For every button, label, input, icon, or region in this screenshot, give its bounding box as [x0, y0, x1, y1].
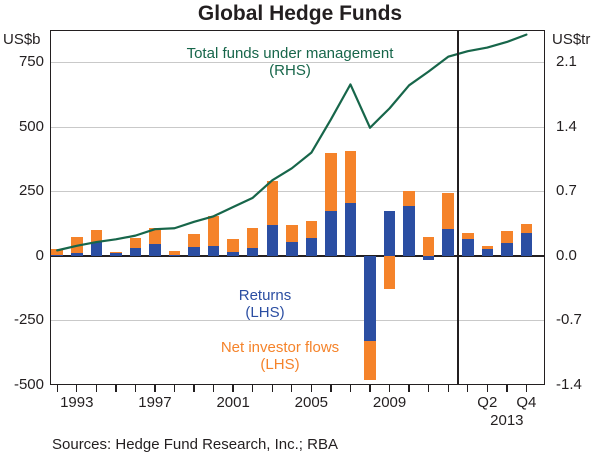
left-tick-label: 250 — [2, 182, 44, 199]
x-tick-mark — [487, 385, 488, 392]
plot-frame — [50, 30, 545, 385]
right-tick-label: -0.7 — [556, 311, 582, 328]
x-tick-mark — [428, 385, 429, 392]
plot-area — [50, 30, 545, 385]
right-axis-unit: US$tr — [552, 31, 590, 48]
legend-net-investor-flows: Net investor flows (LHS) — [180, 340, 380, 374]
right-tick-label: 0.0 — [556, 247, 577, 264]
x-tick-label-q4: Q4 — [506, 394, 546, 411]
x-tick-mark — [526, 385, 527, 392]
x-tick-mark — [213, 385, 214, 392]
legend-returns: Returns (LHS) — [200, 288, 330, 322]
x-tick-mark — [389, 385, 390, 392]
legend-flows-line2: (LHS) — [260, 356, 299, 373]
right-tick-label: -1.4 — [556, 376, 582, 393]
x-tick-mark — [291, 385, 292, 392]
x-tick-mark — [330, 385, 331, 392]
chart-root: Global Hedge Funds US$b US$tr 7505002500… — [0, 0, 600, 462]
legend-returns-line1: Returns — [239, 287, 292, 304]
x-tick-label-year: 1997 — [125, 394, 185, 411]
legend-returns-line2: (LHS) — [245, 304, 284, 321]
x-tick-mark — [448, 385, 449, 392]
x-tick-label-year: 2005 — [281, 394, 341, 411]
x-tick-mark — [174, 385, 175, 392]
x-tick-label-year: 2009 — [360, 394, 420, 411]
x-tick-mark — [369, 385, 370, 392]
left-tick-label: 500 — [2, 118, 44, 135]
legend-total-funds: Total funds under management (RHS) — [180, 46, 400, 80]
x-tick-mark — [272, 385, 273, 392]
right-tick-label: 2.1 — [556, 53, 577, 70]
x-tick-mark — [506, 385, 507, 392]
left-tick-label: 750 — [2, 53, 44, 70]
x-tick-mark — [76, 385, 77, 392]
x-tick-mark — [135, 385, 136, 392]
left-tick-label: -250 — [2, 311, 44, 328]
right-tick-label: 1.4 — [556, 118, 577, 135]
x-tick-mark — [115, 385, 116, 392]
x-tick-label-year: 1993 — [47, 394, 107, 411]
x-tick-mark — [350, 385, 351, 392]
legend-flows-line1: Net investor flows — [221, 339, 339, 356]
source-note: Sources: Hedge Fund Research, Inc.; RBA — [52, 436, 338, 453]
left-tick-label: 0 — [2, 247, 44, 264]
x-tick-label-2013: 2013 — [477, 412, 537, 429]
x-tick-mark — [467, 385, 468, 392]
left-tick-label: -500 — [2, 376, 44, 393]
x-tick-label-q2: Q2 — [467, 394, 507, 411]
chart-title: Global Hedge Funds — [0, 2, 600, 26]
x-tick-mark — [193, 385, 194, 392]
x-tick-mark — [252, 385, 253, 392]
x-tick-mark — [311, 385, 312, 392]
legend-total-funds-line1: Total funds under management — [187, 45, 394, 62]
x-tick-mark — [154, 385, 155, 392]
legend-total-funds-line2: (RHS) — [269, 62, 311, 79]
right-tick-label: 0.7 — [556, 182, 577, 199]
x-tick-label-year: 2001 — [203, 394, 263, 411]
x-tick-mark — [57, 385, 58, 392]
x-tick-mark — [408, 385, 409, 392]
x-tick-mark — [96, 385, 97, 392]
left-axis-unit: US$b — [3, 31, 41, 48]
x-tick-mark — [232, 385, 233, 392]
